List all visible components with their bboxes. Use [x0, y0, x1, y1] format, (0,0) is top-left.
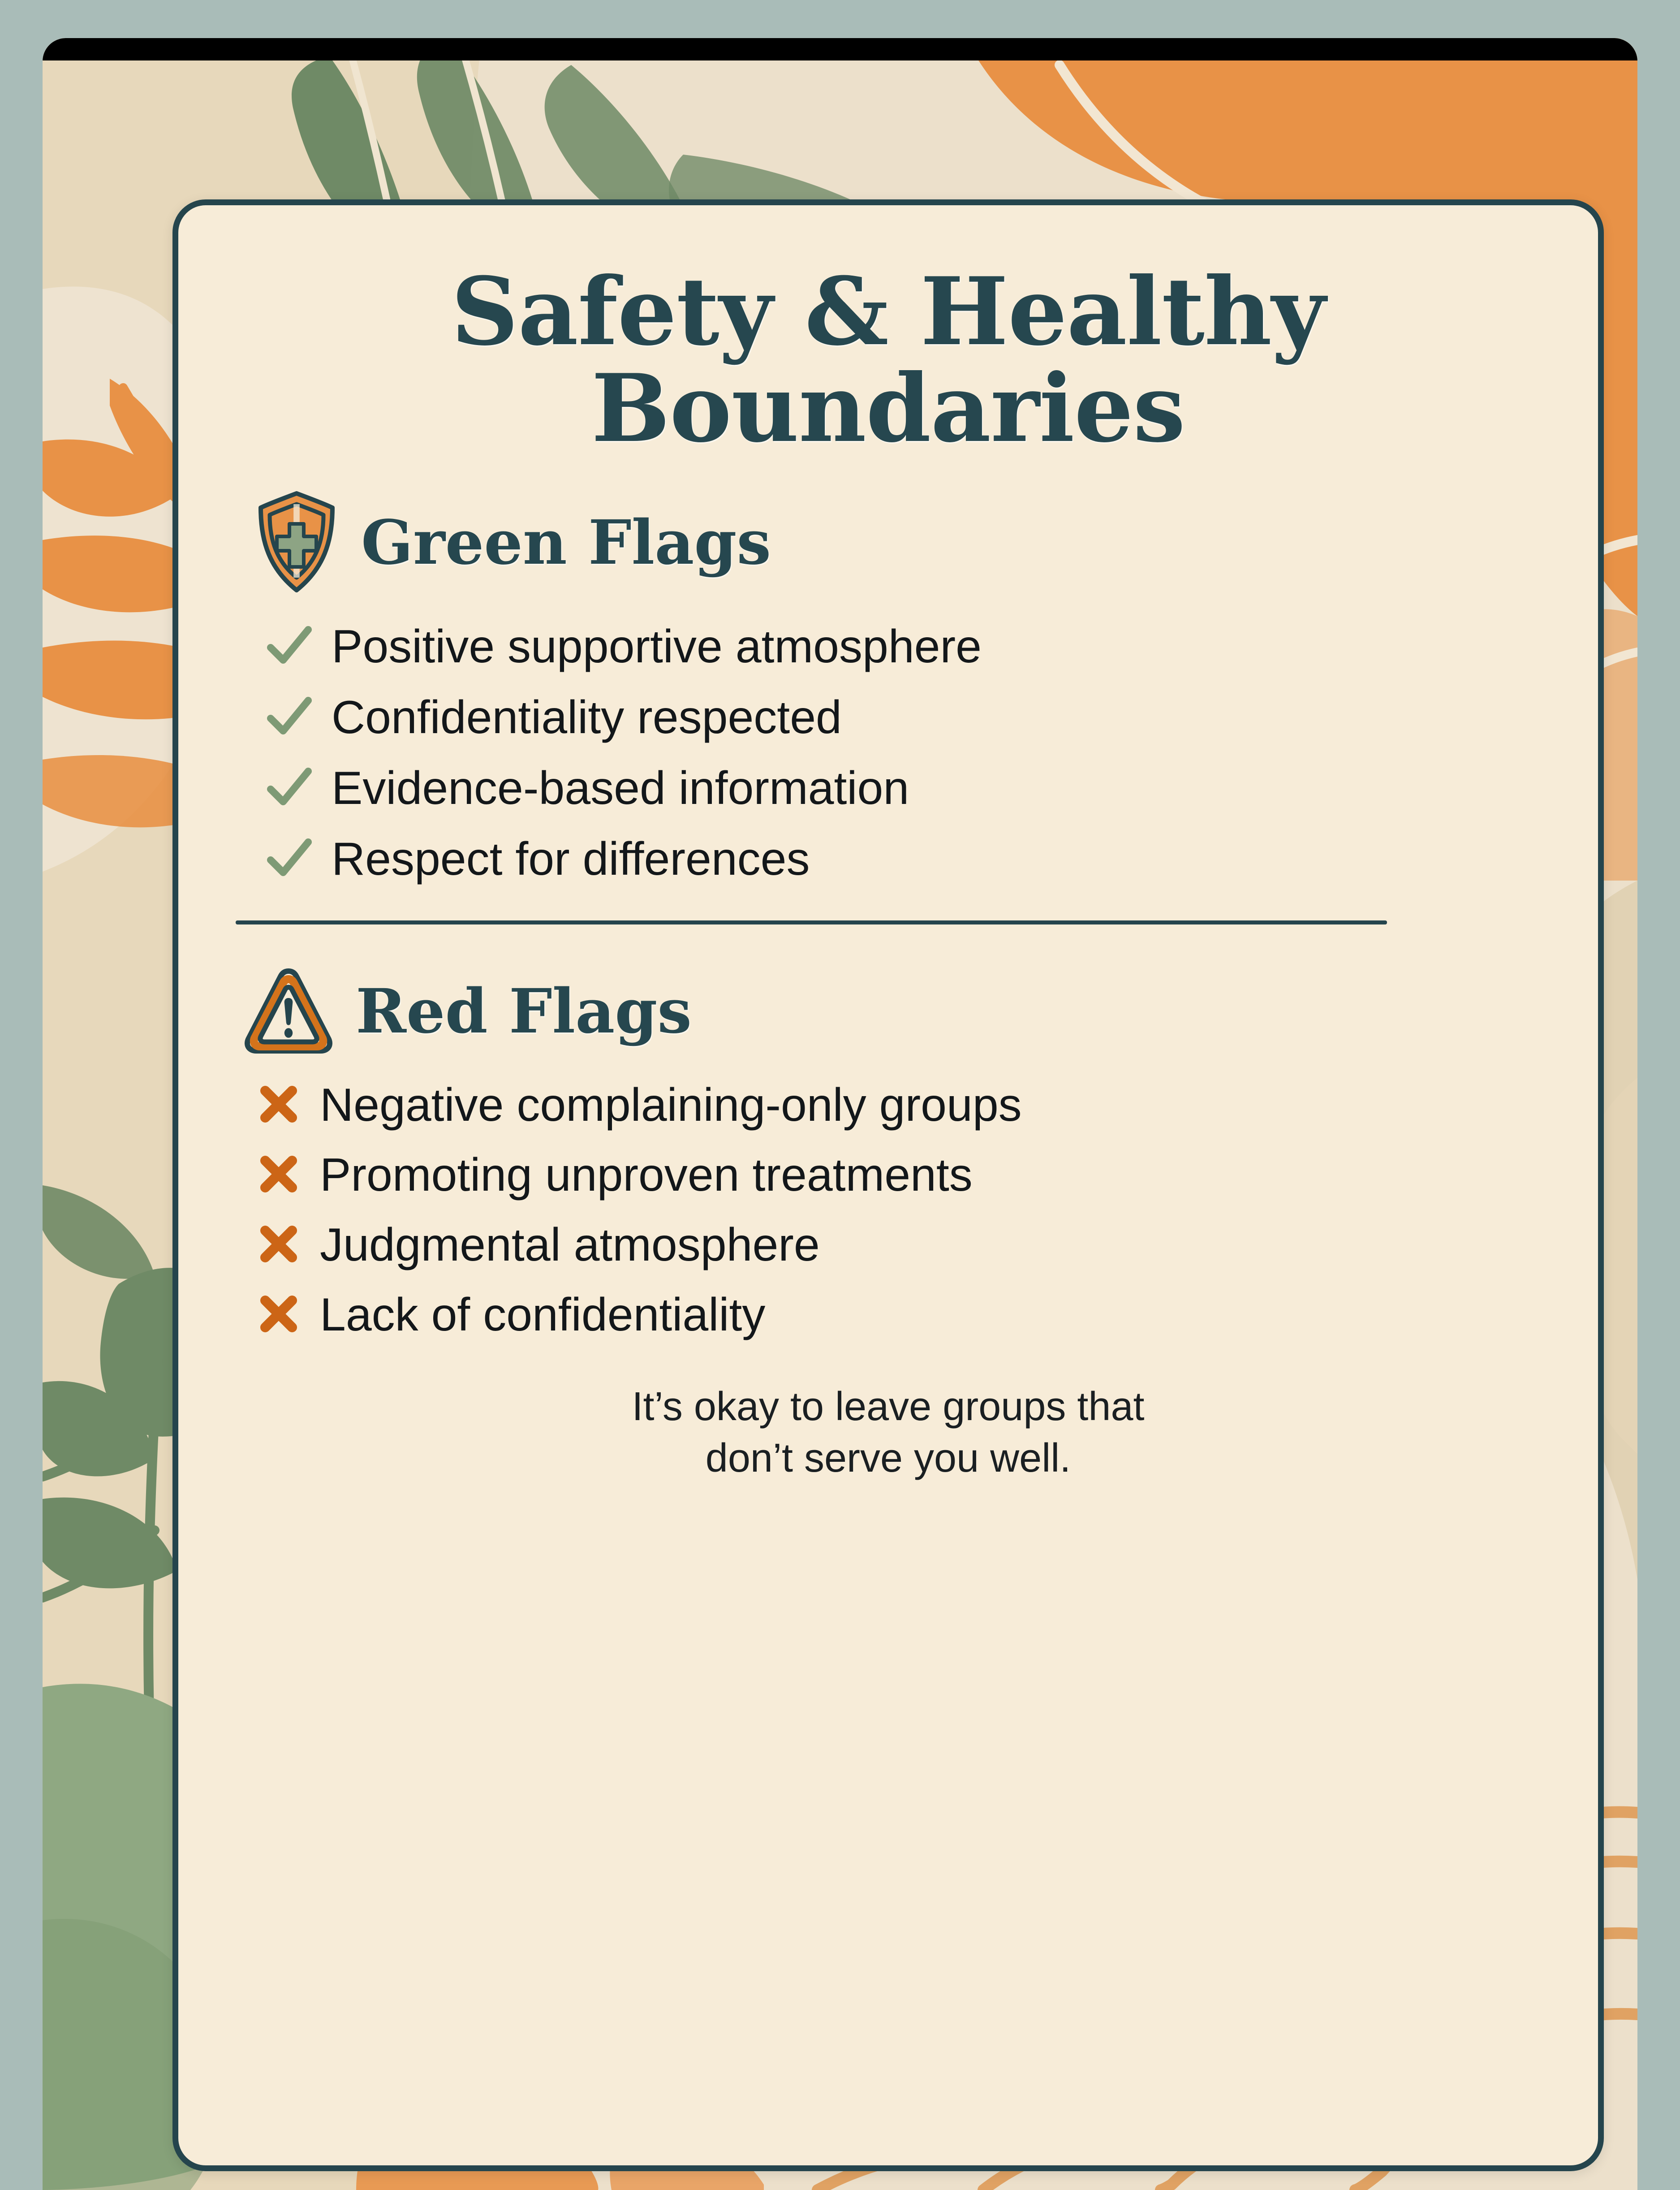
section-divider	[236, 920, 1387, 924]
poster-canvas: Safety & Healthy Boundaries Green Flags	[0, 0, 1680, 2190]
poster: Safety & Healthy Boundaries Green Flags	[43, 38, 1637, 2190]
section-title-green-flags: Green Flags	[361, 512, 771, 573]
list-item-label: Positive supportive atmosphere	[332, 621, 982, 672]
footer-note-line-2: don’t serve you well.	[228, 1433, 1549, 1484]
list-item-label: Evidence-based information	[332, 763, 909, 814]
cross-icon	[255, 1151, 302, 1200]
shield-plus-icon	[252, 490, 341, 596]
page-title: Safety & Healthy Boundaries	[228, 205, 1549, 458]
section-header-red-flags: Red Flags	[228, 966, 1549, 1058]
page-title-line-2: Boundaries	[591, 354, 1185, 463]
list-item: Judgmental atmosphere	[255, 1213, 1549, 1278]
list-item: Confidentiality respected	[263, 685, 1549, 751]
check-icon	[263, 762, 314, 815]
cross-icon	[255, 1081, 302, 1130]
list-item-label: Promoting unproven treatments	[320, 1149, 973, 1201]
list-item-label: Respect for differences	[332, 834, 810, 885]
footer-note-line-1: It’s okay to leave groups that	[228, 1381, 1549, 1433]
content-card: Safety & Healthy Boundaries Green Flags	[172, 199, 1604, 2171]
list-item-label: Confidentiality respected	[332, 692, 842, 743]
page-title-line-1: Safety & Healthy	[451, 257, 1325, 367]
cross-icon	[255, 1291, 302, 1339]
list-item: Negative complaining-only groups	[255, 1073, 1549, 1138]
list-item: Respect for differences	[263, 826, 1549, 893]
poster-top-bar	[43, 38, 1637, 60]
footer-note: It’s okay to leave groups that don’t ser…	[228, 1381, 1549, 1484]
check-icon	[263, 691, 314, 744]
list-item: Lack of confidentiality	[255, 1283, 1549, 1348]
list-item-label: Judgmental atmosphere	[320, 1219, 820, 1270]
warning-triangle-icon	[241, 966, 336, 1058]
check-icon	[263, 833, 314, 886]
list-item: Promoting unproven treatments	[255, 1143, 1549, 1208]
list-item: Positive supportive atmosphere	[263, 614, 1549, 680]
cross-icon	[255, 1221, 302, 1270]
check-icon	[263, 621, 314, 673]
list-item: Evidence-based information	[263, 756, 1549, 822]
red-flags-list: Negative complaining-only groups Promoti…	[228, 1073, 1549, 1348]
section-header-green-flags: Green Flags	[228, 490, 1549, 596]
green-flags-list: Positive supportive atmosphere Confident…	[228, 614, 1549, 893]
section-title-red-flags: Red Flags	[356, 981, 692, 1042]
list-item-label: Negative complaining-only groups	[320, 1080, 1022, 1131]
list-item-label: Lack of confidentiality	[320, 1289, 765, 1340]
